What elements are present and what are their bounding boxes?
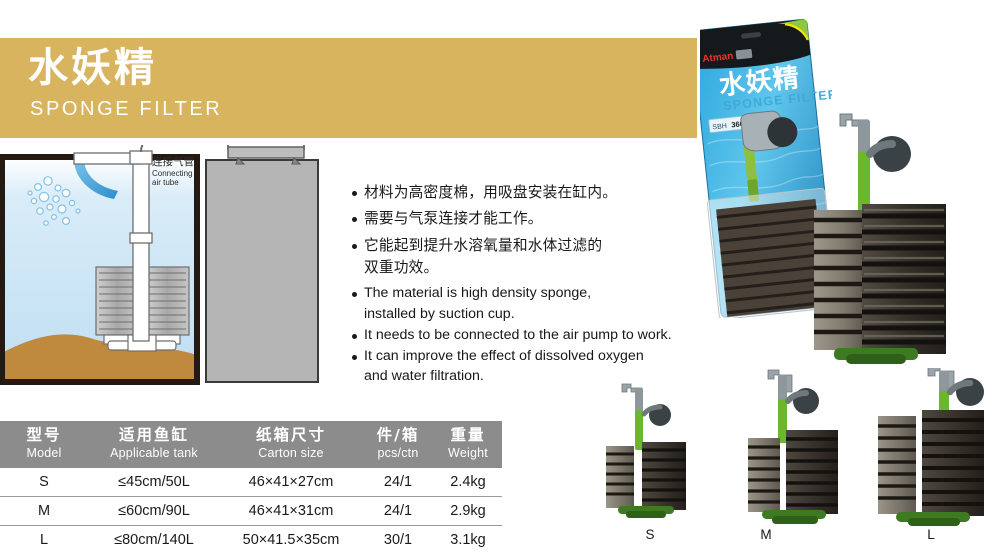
diagram-svg: 连接气管 Connecting air tube 气泵 Air pump (0, 145, 340, 385)
col-label-cn: 型号 (0, 426, 88, 445)
bullet-dot-icon (352, 355, 357, 360)
column-header-pcs-per-carton: 件/箱 pcs/ctn (362, 421, 434, 468)
col-label-en: pcs/ctn (362, 445, 434, 461)
table-row: M ≤60cm/90L 46×41×31cm 24/1 2.9kg (0, 496, 502, 525)
product-variant-l (878, 368, 984, 526)
cell-pcs: 30/1 (362, 525, 434, 553)
table-row: S ≤45cm/50L 46×41×27cm 24/1 2.4kg (0, 468, 502, 497)
specification-table: 型号 Model 适用鱼缸 Applicable tank 纸箱尺寸 Carto… (0, 421, 502, 553)
column-header-weight: 重量 Weight (434, 421, 502, 468)
riser-pipe (840, 114, 911, 214)
sponge-block-left (814, 210, 862, 350)
column-header-model: 型号 Model (0, 421, 88, 468)
cell-pcs: 24/1 (362, 468, 434, 497)
col-label-cn: 重量 (434, 426, 502, 445)
product-variant-m (748, 370, 838, 524)
product-datasheet-page: 水妖精 SPONGE FILTER (0, 0, 1000, 553)
table-header-row: 型号 Model 适用鱼缸 Applicable tank 纸箱尺寸 Carto… (0, 421, 502, 468)
table-row: L ≤80cm/140L 50×41.5×35cm 30/1 3.1kg (0, 525, 502, 553)
feature-text: 材料为高密度棉，用吸盘安装在缸内。 (364, 182, 617, 204)
feature-text: 它能起到提升水溶氧量和水体过滤的 双重功效。 (364, 235, 602, 280)
page-title-en: SPONGE FILTER (30, 98, 222, 121)
feature-text: 需要与气泵连接才能工作。 (364, 208, 543, 230)
size-label-m: M (746, 527, 786, 542)
col-label-en: Weight (434, 445, 502, 461)
col-label-cn: 件/箱 (362, 426, 434, 445)
size-label-s: S (630, 527, 670, 542)
air-tube-label-cn: 连接气管 (152, 155, 194, 168)
feature-item-en-1: The material is high density sponge, ins… (352, 283, 682, 324)
feature-list: 材料为高密度棉，用吸盘安装在缸内。 需要与气泵连接才能工作。 它能起到提升水溶氧… (352, 182, 682, 387)
col-label-en: Carton size (220, 445, 362, 461)
feature-item-cn-2: 需要与气泵连接才能工作。 (352, 208, 682, 230)
bullet-dot-icon (352, 244, 357, 249)
cell-carton: 46×41×27cm (220, 468, 362, 497)
sponge-block-right (862, 204, 946, 354)
bullet-dot-icon (352, 292, 357, 297)
col-label-cn: 纸箱尺寸 (220, 426, 362, 445)
bullet-dot-icon (352, 191, 357, 196)
air-tube-label-en-2: air tube (152, 178, 179, 187)
cell-weight: 2.9kg (434, 496, 502, 525)
cell-model: S (0, 468, 88, 497)
cell-carton: 50×41.5×35cm (220, 525, 362, 553)
cell-tank: ≤80cm/140L (88, 525, 220, 553)
aquarium-installation-diagram: 连接气管 Connecting air tube 气泵 Air pump (0, 145, 340, 385)
cell-model: M (0, 496, 88, 525)
col-label-en: Applicable tank (88, 445, 220, 461)
feature-text: It needs to be connected to the air pump… (364, 325, 672, 346)
air-tube-label-en-1: Connecting (152, 169, 192, 178)
cell-weight: 3.1kg (434, 525, 502, 553)
cell-model: L (0, 525, 88, 553)
col-label-en: Model (0, 445, 88, 461)
bullet-dot-icon (352, 217, 357, 222)
col-label-cn: 适用鱼缸 (88, 426, 220, 445)
column-header-carton-size: 纸箱尺寸 Carton size (220, 421, 362, 468)
column-header-applicable-tank: 适用鱼缸 Applicable tank (88, 421, 220, 468)
hero-product-photo (806, 110, 958, 370)
product-size-lineup (600, 368, 1000, 553)
cell-carton: 46×41×31cm (220, 496, 362, 525)
header-banner: 水妖精 SPONGE FILTER (0, 38, 697, 138)
product-variant-s (606, 384, 686, 518)
feature-item-cn-1: 材料为高密度棉，用吸盘安装在缸内。 (352, 182, 682, 204)
cell-pcs: 24/1 (362, 496, 434, 525)
cell-tank: ≤45cm/50L (88, 468, 220, 497)
feature-item-en-2: It needs to be connected to the air pump… (352, 325, 682, 346)
bullet-dot-icon (352, 334, 357, 339)
feature-text: The material is high density sponge, ins… (364, 283, 591, 324)
cell-tank: ≤60cm/90L (88, 496, 220, 525)
svg-text:SBH: SBH (712, 123, 727, 131)
cabinet (206, 160, 318, 382)
size-label-l: L (911, 527, 951, 542)
base-manifold (834, 348, 918, 364)
feature-item-cn-3: 它能起到提升水溶氧量和水体过滤的 双重功效。 (352, 235, 682, 280)
page-title-cn: 水妖精 (28, 46, 157, 90)
cell-weight: 2.4kg (434, 468, 502, 497)
spec-table: 型号 Model 适用鱼缸 Applicable tank 纸箱尺寸 Carto… (0, 421, 502, 553)
